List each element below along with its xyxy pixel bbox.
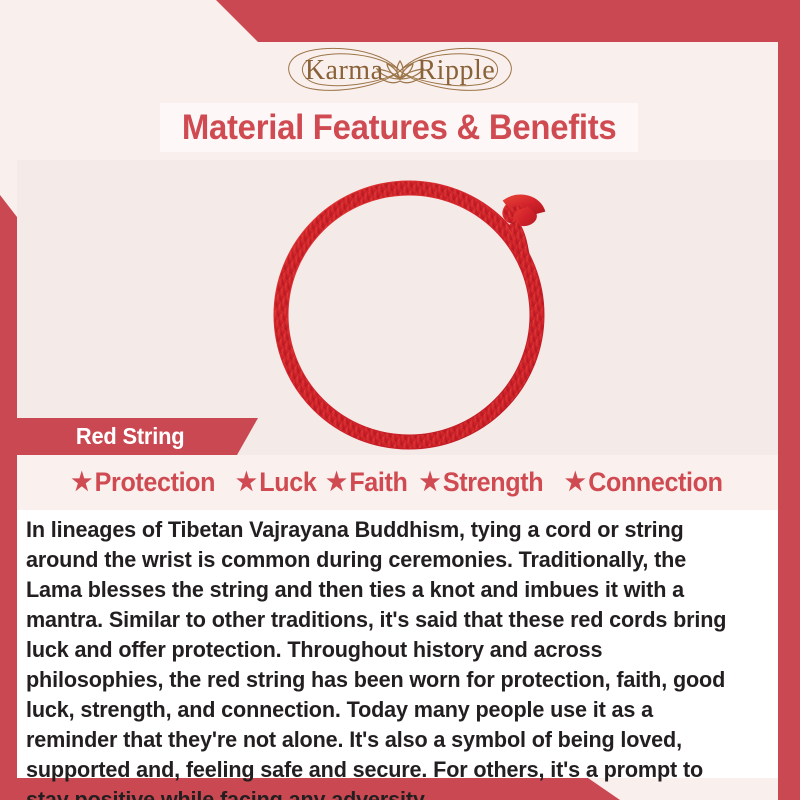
brand-name-right: Ripple — [418, 55, 496, 87]
feature-item-strength: ★ Strength — [419, 467, 543, 498]
red-string-bracelet-image — [257, 165, 577, 455]
decorative-right-strip — [778, 42, 800, 800]
page-title: Material Features & Benefits — [182, 108, 617, 148]
star-icon: ★ — [419, 470, 439, 495]
feature-item-protection: ★ Protection — [72, 467, 216, 498]
feature-label: Strength — [442, 467, 542, 498]
decorative-top-bar — [0, 0, 800, 42]
brand-logo: Karma Ripple — [0, 40, 800, 102]
features-list: ★ Protection ★ Luck ★ Faith ★ Strength ★… — [66, 467, 729, 498]
feature-label: Connection — [589, 467, 723, 498]
product-photo — [17, 160, 778, 460]
page-title-band: Material Features & Benefits — [160, 103, 638, 152]
decorative-left-strip — [0, 195, 17, 800]
brand-wordmark: Karma Ripple — [305, 55, 495, 87]
material-banner: Red String — [0, 418, 258, 455]
star-icon: ★ — [565, 470, 585, 495]
star-icon: ★ — [236, 470, 256, 495]
description-block: In lineages of Tibetan Vajrayana Buddhis… — [17, 510, 778, 778]
star-icon: ★ — [326, 470, 346, 495]
brand-name-left: Karma — [305, 55, 384, 87]
infographic-card: Karma Ripple Material Features & Benefit… — [0, 0, 800, 800]
description-text: In lineages of Tibetan Vajrayana Buddhis… — [26, 515, 727, 800]
feature-item-faith: ★ Faith — [326, 467, 407, 498]
feature-item-connection: ★ Connection — [565, 467, 723, 498]
feature-label: Faith — [349, 467, 407, 498]
material-banner-label: Red String — [76, 423, 185, 450]
feature-item-luck: ★ Luck — [236, 467, 316, 498]
star-icon: ★ — [72, 470, 92, 495]
features-band: ★ Protection ★ Luck ★ Faith ★ Strength ★… — [17, 455, 778, 510]
feature-label: Luck — [259, 467, 316, 498]
feature-label: Protection — [95, 467, 215, 498]
